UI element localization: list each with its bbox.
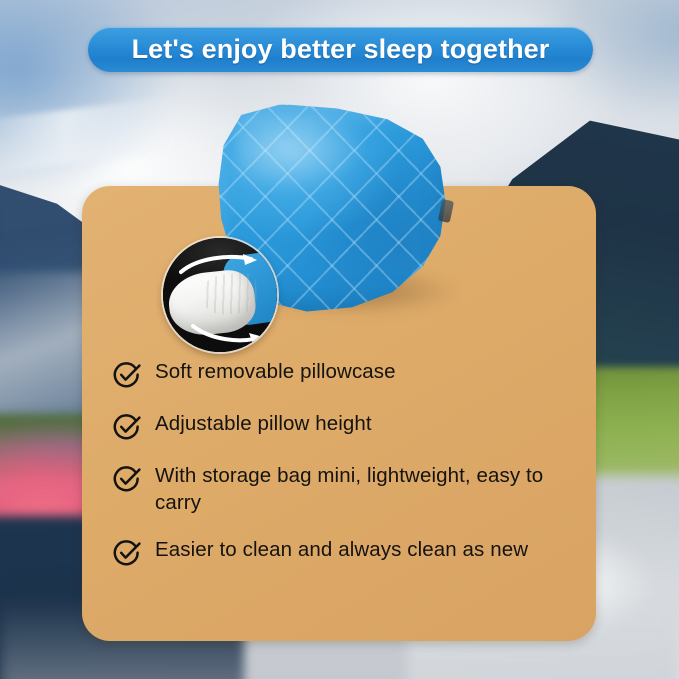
arrow-down-icon bbox=[189, 322, 265, 346]
feature-item: Soft removable pillowcase bbox=[112, 358, 582, 390]
feature-text: With storage bag mini, lightweight, easy… bbox=[155, 462, 575, 516]
check-circle-icon bbox=[112, 464, 142, 494]
check-circle-icon bbox=[112, 360, 142, 390]
inset-liner-folds bbox=[201, 271, 259, 316]
feature-list: Soft removable pillowcase Adjustable pil… bbox=[112, 358, 582, 568]
arrow-up-icon bbox=[179, 252, 261, 278]
product-feature-image: Let's enjoy better sleep together bbox=[0, 0, 679, 679]
feature-item: With storage bag mini, lightweight, easy… bbox=[112, 462, 582, 516]
feature-text: Easier to clean and always clean as new bbox=[155, 536, 528, 563]
feature-item: Adjustable pillow height bbox=[112, 410, 582, 442]
headline-text: Let's enjoy better sleep together bbox=[132, 34, 550, 65]
feature-text: Adjustable pillow height bbox=[155, 410, 372, 437]
check-circle-icon bbox=[112, 538, 142, 568]
feature-item: Easier to clean and always clean as new bbox=[112, 536, 582, 568]
check-circle-icon bbox=[112, 412, 142, 442]
headline-banner: Let's enjoy better sleep together bbox=[88, 27, 593, 72]
detail-inset-circle bbox=[163, 238, 277, 352]
feature-text: Soft removable pillowcase bbox=[155, 358, 396, 385]
